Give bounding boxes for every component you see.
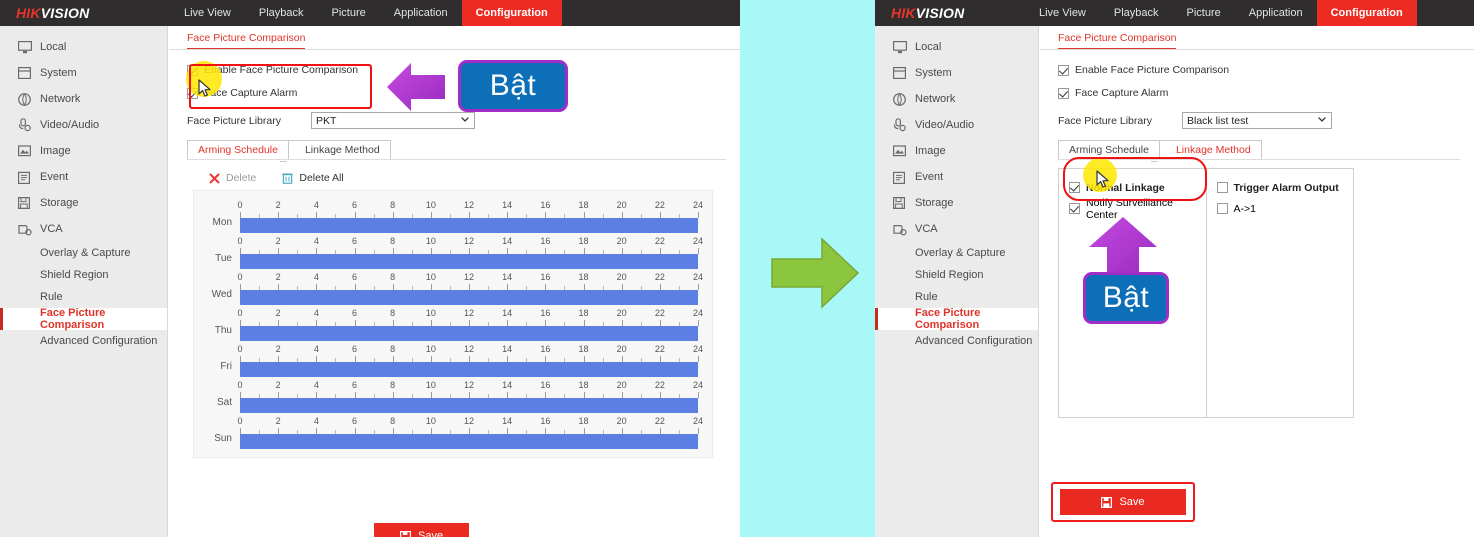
sidebar-item-network[interactable]: Network: [875, 86, 1038, 112]
sidebar-item-video-audio[interactable]: Video/Audio: [0, 112, 167, 138]
schedule-tick-mark: [622, 284, 623, 290]
schedule-row[interactable]: Mon024681012141618202224: [194, 197, 712, 233]
sidebar-label: Video/Audio: [915, 119, 974, 131]
face-capture-alarm-row[interactable]: Face Capture Alarm: [1058, 83, 1474, 103]
schedule-tick-label: 6: [352, 236, 357, 246]
notify-surveillance-center-row[interactable]: Notify Surveillance Center: [1069, 198, 1206, 219]
schedule-tick-label: 12: [464, 380, 474, 390]
face-picture-library-select[interactable]: PKT: [311, 112, 475, 129]
save-button[interactable]: Save: [1060, 489, 1186, 515]
schedule-bar[interactable]: [240, 326, 698, 341]
schedule-tick-mark-minor: [488, 286, 489, 290]
schedule-tick-mark: [393, 320, 394, 326]
schedule-tick-mark-minor: [450, 394, 451, 398]
nav-live-view[interactable]: Live View: [1025, 0, 1100, 26]
alarm-output-a1-label: A->1: [1234, 203, 1256, 215]
sidebar-item-event[interactable]: Event: [0, 164, 167, 190]
schedule-tick-label: 16: [540, 200, 550, 210]
schedule-tick-label: 20: [617, 380, 627, 390]
face-capture-alarm-checkbox[interactable]: [187, 88, 198, 99]
schedule-tick-label: 2: [276, 380, 281, 390]
schedule-tick-mark-minor: [641, 250, 642, 254]
sidebar-item-system[interactable]: System: [0, 60, 167, 86]
schedule-tick-mark: [507, 392, 508, 398]
schedule-ruler: 024681012141618202224: [240, 272, 698, 290]
linkage-column-trigger: Trigger Alarm Output A->1: [1207, 169, 1354, 417]
delete-button[interactable]: Delete: [209, 172, 256, 184]
schedule-tick-mark: [316, 392, 317, 398]
schedule-tick-label: 6: [352, 308, 357, 318]
sidebar-item-storage[interactable]: Storage: [875, 190, 1038, 216]
schedule-tick-mark: [469, 212, 470, 218]
schedule-tick-mark-minor: [335, 358, 336, 362]
schedule-tick-mark: [355, 428, 356, 434]
schedule-tick-label: 12: [464, 200, 474, 210]
tab-arming-schedule[interactable]: Arming Schedule: [1058, 140, 1159, 160]
schedule-tick-label: 22: [655, 236, 665, 246]
schedule-tick-label: 22: [655, 200, 665, 210]
schedule-tick-mark-minor: [641, 322, 642, 326]
schedule-tick-mark-minor: [335, 214, 336, 218]
schedule-tick-mark: [355, 248, 356, 254]
nav-playback[interactable]: Playback: [1100, 0, 1173, 26]
schedule-row[interactable]: Fri024681012141618202224: [194, 341, 712, 377]
schedule-track[interactable]: 024681012141618202224: [240, 416, 698, 449]
schedule-tick-label: 22: [655, 380, 665, 390]
schedule-tick-label: 18: [578, 344, 588, 354]
calendar-icon: [18, 169, 40, 185]
schedule-tick-label: 4: [314, 380, 319, 390]
nav-playback[interactable]: Playback: [245, 0, 318, 26]
delete-all-button[interactable]: Delete All: [282, 172, 343, 184]
schedule-tick-mark: [507, 284, 508, 290]
schedule-tick-mark: [660, 428, 661, 434]
schedule-tick-mark: [507, 320, 508, 326]
schedule-tick-mark-minor: [335, 250, 336, 254]
schedule-tick-mark: [660, 284, 661, 290]
schedule-tick-mark: [355, 284, 356, 290]
schedule-tick-label: 18: [578, 200, 588, 210]
sidebar-label: Image: [40, 145, 71, 157]
left-save-container: Save: [374, 523, 494, 537]
schedule-tick-mark: [278, 320, 279, 326]
schedule-bar[interactable]: [240, 290, 698, 305]
schedule-tick-mark: [545, 428, 546, 434]
sidebar-item-network[interactable]: Network: [0, 86, 167, 112]
sidebar-item-advanced-configuration[interactable]: Advanced Configuration: [875, 330, 1038, 352]
schedule-tick-mark-minor: [412, 322, 413, 326]
face-capture-alarm-checkbox[interactable]: [1058, 88, 1069, 99]
schedule-tick-mark: [240, 320, 241, 326]
sidebar-item-local[interactable]: Local: [875, 34, 1038, 60]
sidebar-item-face-picture-comparison[interactable]: Face Picture Comparison: [0, 308, 167, 330]
x-icon: [209, 173, 220, 184]
tab-linkage-method[interactable]: Linkage Method: [1159, 140, 1262, 160]
sidebar-item-vca[interactable]: VCA: [0, 216, 167, 242]
sidebar-item-image[interactable]: Image: [0, 138, 167, 164]
schedule-tick-mark-minor: [374, 358, 375, 362]
trash-icon: [282, 172, 293, 184]
schedule-tick-mark: [316, 320, 317, 326]
schedule-tick-mark: [431, 392, 432, 398]
save-label: Save: [1119, 496, 1144, 508]
schedule-tick-label: 2: [276, 308, 281, 318]
schedule-tick-mark: [278, 428, 279, 434]
schedule-tick-mark: [431, 284, 432, 290]
schedule-tick-label: 4: [314, 236, 319, 246]
notify-surveillance-center-label: Notify Surveillance Center: [1086, 197, 1206, 221]
trigger-alarm-output-checkbox[interactable]: [1217, 182, 1228, 193]
monitor-icon: [18, 39, 40, 55]
schedule-tick-mark-minor: [450, 286, 451, 290]
nav-application[interactable]: Application: [380, 0, 462, 26]
save-button[interactable]: Save: [374, 523, 469, 537]
schedule-tick-label: 10: [426, 308, 436, 318]
schedule-tick-mark: [507, 428, 508, 434]
schedule-tick-mark: [545, 248, 546, 254]
schedule-bar[interactable]: [240, 398, 698, 413]
schedule-tick-label: 12: [464, 416, 474, 426]
schedule-tick-label: 18: [578, 308, 588, 318]
right-tab-bar: Arming Schedule Linkage Method: [1058, 140, 1474, 160]
schedule-tick-mark-minor: [297, 394, 298, 398]
arming-schedule-grid[interactable]: Mon024681012141618202224Tue0246810121416…: [193, 190, 713, 458]
schedule-tick-mark: [240, 392, 241, 398]
linkage-method-panel: Normal Linkage Notify Surveillance Cente…: [1058, 168, 1354, 418]
left-screenshot-panel: HIK VISION Live View Playback Picture Ap…: [0, 0, 740, 537]
schedule-tick-mark: [469, 428, 470, 434]
schedule-tick-label: 12: [464, 272, 474, 282]
schedule-tick-mark: [698, 284, 699, 290]
schedule-tick-mark-minor: [526, 394, 527, 398]
breadcrumb-label: Face Picture Comparison: [1058, 32, 1176, 50]
schedule-row[interactable]: Sat024681012141618202224: [194, 377, 712, 413]
sidebar-item-local[interactable]: Local: [0, 34, 167, 60]
schedule-tick-mark-minor: [412, 394, 413, 398]
face-capture-alarm-label: Face Capture Alarm: [204, 87, 297, 99]
schedule-tick-label: 4: [314, 416, 319, 426]
schedule-tick-mark-minor: [679, 394, 680, 398]
schedule-tick-label: 18: [578, 380, 588, 390]
schedule-tick-mark-minor: [374, 286, 375, 290]
schedule-tick-label: 14: [502, 308, 512, 318]
schedule-tick-mark: [545, 320, 546, 326]
schedule-tick-mark-minor: [412, 430, 413, 434]
schedule-row[interactable]: Wed024681012141618202224: [194, 269, 712, 305]
nav-configuration[interactable]: Configuration: [1317, 0, 1417, 26]
schedule-tick-mark-minor: [488, 430, 489, 434]
schedule-tick-mark-minor: [374, 394, 375, 398]
schedule-track[interactable]: 024681012141618202224: [240, 236, 698, 269]
nav-live-view[interactable]: Live View: [170, 0, 245, 26]
schedule-tick-mark: [316, 428, 317, 434]
schedule-tick-mark: [698, 320, 699, 326]
tab-linkage-method[interactable]: Linkage Method: [288, 140, 391, 160]
schedule-tick-mark-minor: [450, 250, 451, 254]
trigger-alarm-output-row[interactable]: Trigger Alarm Output: [1217, 177, 1354, 198]
schedule-tick-label: 16: [540, 380, 550, 390]
normal-linkage-row[interactable]: Normal Linkage: [1069, 177, 1206, 198]
screenshot-stage: HIK VISION Live View Playback Picture Ap…: [0, 0, 1474, 537]
schedule-tick-mark: [393, 284, 394, 290]
schedule-tick-label: 6: [352, 200, 357, 210]
enable-face-picture-comparison-label: Enable Face Picture Comparison: [1075, 64, 1229, 76]
sidebar-label: Event: [40, 171, 68, 183]
schedule-tick-label: 10: [426, 380, 436, 390]
schedule-tick-label: 12: [464, 308, 474, 318]
schedule-track[interactable]: 024681012141618202224: [240, 272, 698, 305]
schedule-bar[interactable]: [240, 218, 698, 233]
enable-face-picture-comparison-row[interactable]: Enable Face Picture Comparison: [1058, 60, 1474, 80]
schedule-tick-mark-minor: [603, 214, 604, 218]
schedule-bar[interactable]: [240, 362, 698, 377]
sidebar-label: Network: [40, 93, 80, 105]
schedule-track[interactable]: 024681012141618202224: [240, 344, 698, 377]
schedule-tick-mark-minor: [335, 322, 336, 326]
schedule-tick-label: 8: [390, 236, 395, 246]
schedule-tick-mark: [316, 212, 317, 218]
top-navigation-bar: HIK VISION Live View Playback Picture Ap…: [0, 0, 740, 26]
schedule-tick-label: 22: [655, 344, 665, 354]
notify-surveillance-center-checkbox[interactable]: [1069, 203, 1080, 214]
schedule-tick-mark: [240, 356, 241, 362]
schedule-tick-label: 24: [693, 416, 703, 426]
breadcrumb: Face Picture Comparison: [1040, 26, 1474, 50]
schedule-tick-mark-minor: [297, 286, 298, 290]
schedule-tick-mark-minor: [259, 358, 260, 362]
right-sidebar: Local System Network Video/Audio Image E…: [875, 26, 1039, 537]
alarm-output-a1-checkbox[interactable]: [1217, 203, 1228, 214]
schedule-tick-mark-minor: [297, 430, 298, 434]
schedule-tick-mark-minor: [374, 322, 375, 326]
schedule-track[interactable]: 024681012141618202224: [240, 308, 698, 341]
schedule-tick-label: 22: [655, 308, 665, 318]
face-picture-library-select[interactable]: Black list test: [1182, 112, 1332, 129]
schedule-tick-mark-minor: [450, 214, 451, 218]
schedule-tick-label: 14: [502, 272, 512, 282]
schedule-tick-mark-minor: [412, 250, 413, 254]
trigger-alarm-output-label: Trigger Alarm Output: [1234, 182, 1339, 194]
schedule-tick-mark: [316, 356, 317, 362]
globe-icon: [893, 91, 915, 107]
face-capture-alarm-row[interactable]: Face Capture Alarm: [187, 83, 740, 103]
schedule-track[interactable]: 024681012141618202224: [240, 380, 698, 413]
schedule-tick-mark: [584, 428, 585, 434]
schedule-tick-label: 0: [237, 308, 242, 318]
normal-linkage-label: Normal Linkage: [1086, 182, 1165, 194]
schedule-tick-mark: [431, 356, 432, 362]
sidebar-label: Image: [915, 145, 946, 157]
schedule-tick-mark-minor: [641, 430, 642, 434]
calendar-icon: [893, 169, 915, 185]
sidebar-label: VCA: [40, 223, 63, 235]
schedule-tick-mark: [240, 248, 241, 254]
schedule-tick-mark: [393, 428, 394, 434]
schedule-tick-mark: [469, 392, 470, 398]
logo-hik-text: HIK: [16, 5, 41, 21]
schedule-tick-label: 14: [502, 200, 512, 210]
schedule-tick-label: 24: [693, 236, 703, 246]
schedule-tick-mark-minor: [603, 358, 604, 362]
schedule-tick-label: 12: [464, 344, 474, 354]
schedule-tick-label: 18: [578, 236, 588, 246]
schedule-tick-mark-minor: [297, 322, 298, 326]
schedule-day-label: Sat: [194, 397, 240, 413]
schedule-ruler: 024681012141618202224: [240, 308, 698, 326]
schedule-tick-mark: [660, 356, 661, 362]
floppy-icon: [1101, 497, 1112, 508]
schedule-tick-label: 24: [693, 308, 703, 318]
schedule-ruler: 024681012141618202224: [240, 200, 698, 218]
schedule-tick-label: 16: [540, 344, 550, 354]
schedule-tick-mark-minor: [526, 358, 527, 362]
sidebar-item-vca[interactable]: VCA: [875, 216, 1038, 242]
window-icon: [893, 65, 915, 81]
schedule-track[interactable]: 024681012141618202224: [240, 200, 698, 233]
nav-picture[interactable]: Picture: [1173, 0, 1235, 26]
schedule-tick-mark: [316, 248, 317, 254]
schedule-tick-mark-minor: [259, 250, 260, 254]
schedule-tick-label: 0: [237, 272, 242, 282]
globe-icon: [18, 91, 40, 107]
schedule-tick-label: 18: [578, 272, 588, 282]
schedule-tick-label: 10: [426, 200, 436, 210]
schedule-tick-label: 8: [390, 344, 395, 354]
schedule-row[interactable]: Tue024681012141618202224: [194, 233, 712, 269]
schedule-tick-label: 16: [540, 236, 550, 246]
schedule-tick-label: 22: [655, 416, 665, 426]
schedule-tick-mark-minor: [679, 286, 680, 290]
schedule-tick-mark-minor: [603, 322, 604, 326]
schedule-tick-mark: [393, 392, 394, 398]
picture-icon: [893, 143, 915, 159]
schedule-tick-mark: [622, 428, 623, 434]
schedule-tick-mark: [507, 212, 508, 218]
schedule-tick-mark-minor: [564, 322, 565, 326]
sidebar-item-video-audio[interactable]: Video/Audio: [875, 112, 1038, 138]
schedule-tick-mark: [584, 320, 585, 326]
schedule-tick-mark: [469, 320, 470, 326]
sidebar-item-image[interactable]: Image: [875, 138, 1038, 164]
schedule-tick-label: 4: [314, 344, 319, 354]
schedule-tick-mark-minor: [564, 250, 565, 254]
schedule-day-label: Sun: [194, 433, 240, 449]
schedule-tick-label: 10: [426, 344, 436, 354]
schedule-day-label: Mon: [194, 217, 240, 233]
enable-face-picture-comparison-row[interactable]: Enable Face Picture Comparison: [187, 60, 740, 80]
schedule-tick-mark: [431, 212, 432, 218]
tab-arming-schedule[interactable]: Arming Schedule: [187, 140, 288, 160]
schedule-tick-mark: [355, 356, 356, 362]
schedule-bar[interactable]: [240, 254, 698, 269]
schedule-tick-label: 24: [693, 200, 703, 210]
schedule-tick-label: 12: [464, 236, 474, 246]
schedule-tick-mark: [278, 212, 279, 218]
sidebar-item-advanced-configuration[interactable]: Advanced Configuration: [0, 330, 167, 352]
sidebar-item-shield-region[interactable]: Shield Region: [0, 264, 167, 286]
nav-configuration[interactable]: Configuration: [462, 0, 562, 26]
schedule-toolbar: Delete Delete All: [209, 172, 740, 184]
sidebar-item-face-picture-comparison[interactable]: Face Picture Comparison: [875, 308, 1038, 330]
sidebar-item-shield-region[interactable]: Shield Region: [875, 264, 1038, 286]
schedule-tick-mark: [660, 212, 661, 218]
schedule-tick-mark: [698, 248, 699, 254]
face-picture-library-label: Face Picture Library: [187, 115, 311, 127]
schedule-tick-mark-minor: [564, 214, 565, 218]
schedule-day-label: Fri: [194, 361, 240, 377]
schedule-tick-mark-minor: [488, 394, 489, 398]
tab-underline: [187, 159, 726, 160]
schedule-tick-mark: [584, 356, 585, 362]
schedule-tick-label: 8: [390, 272, 395, 282]
sidebar-item-system[interactable]: System: [875, 60, 1038, 86]
schedule-row[interactable]: Sun024681012141618202224: [194, 413, 712, 449]
schedule-tick-mark: [698, 392, 699, 398]
sidebar-item-event[interactable]: Event: [875, 164, 1038, 190]
schedule-tick-label: 4: [314, 200, 319, 210]
floppy-icon: [18, 195, 40, 211]
left-content-area: Face Picture Comparison Enable Face Pict…: [169, 26, 740, 537]
left-tab-bar: Arming Schedule Linkage Method: [187, 140, 740, 160]
schedule-tick-mark-minor: [641, 214, 642, 218]
schedule-tick-mark: [660, 320, 661, 326]
schedule-tick-mark-minor: [526, 322, 527, 326]
nav-picture[interactable]: Picture: [318, 0, 380, 26]
enable-face-picture-comparison-checkbox[interactable]: [1058, 65, 1069, 76]
nav-application[interactable]: Application: [1235, 0, 1317, 26]
sidebar-item-storage[interactable]: Storage: [0, 190, 167, 216]
linkage-column-normal: Normal Linkage Notify Surveillance Cente…: [1059, 169, 1207, 417]
face-picture-library-value: Black list test: [1187, 115, 1248, 127]
sidebar-item-overlay-capture[interactable]: Overlay & Capture: [0, 242, 167, 264]
enable-face-picture-comparison-checkbox[interactable]: [187, 65, 198, 76]
right-save-highlight-box: Save: [1051, 482, 1195, 522]
schedule-tick-label: 20: [617, 236, 627, 246]
schedule-tick-mark-minor: [335, 286, 336, 290]
normal-linkage-checkbox[interactable]: [1069, 182, 1080, 193]
schedule-tick-label: 0: [237, 380, 242, 390]
schedule-row[interactable]: Thu024681012141618202224: [194, 305, 712, 341]
sidebar-label: System: [915, 67, 952, 79]
schedule-bar[interactable]: [240, 434, 698, 449]
schedule-tick-mark-minor: [679, 250, 680, 254]
tab-underline: [1058, 159, 1460, 160]
schedule-tick-mark-minor: [412, 286, 413, 290]
schedule-tick-mark: [698, 212, 699, 218]
sidebar-item-overlay-capture[interactable]: Overlay & Capture: [875, 242, 1038, 264]
schedule-tick-mark: [584, 392, 585, 398]
alarm-output-a1-row[interactable]: A->1: [1217, 198, 1354, 219]
schedule-tick-mark-minor: [679, 214, 680, 218]
schedule-tick-mark: [278, 356, 279, 362]
schedule-tick-label: 2: [276, 200, 281, 210]
schedule-tick-label: 8: [390, 308, 395, 318]
sidebar-item-rule[interactable]: Rule: [875, 286, 1038, 308]
enable-face-picture-comparison-label: Enable Face Picture Comparison: [204, 64, 358, 76]
schedule-tick-mark-minor: [374, 430, 375, 434]
schedule-tick-label: 14: [502, 236, 512, 246]
sidebar-item-rule[interactable]: Rule: [0, 286, 167, 308]
monitor-icon: [893, 39, 915, 55]
schedule-tick-mark-minor: [564, 286, 565, 290]
schedule-tick-label: 2: [276, 344, 281, 354]
schedule-tick-mark-minor: [564, 358, 565, 362]
schedule-tick-mark-minor: [259, 322, 260, 326]
schedule-tick-label: 6: [352, 344, 357, 354]
schedule-day-label: Tue: [194, 253, 240, 269]
logo-vision-text: VISION: [41, 5, 90, 21]
delete-all-label: Delete All: [299, 172, 343, 184]
